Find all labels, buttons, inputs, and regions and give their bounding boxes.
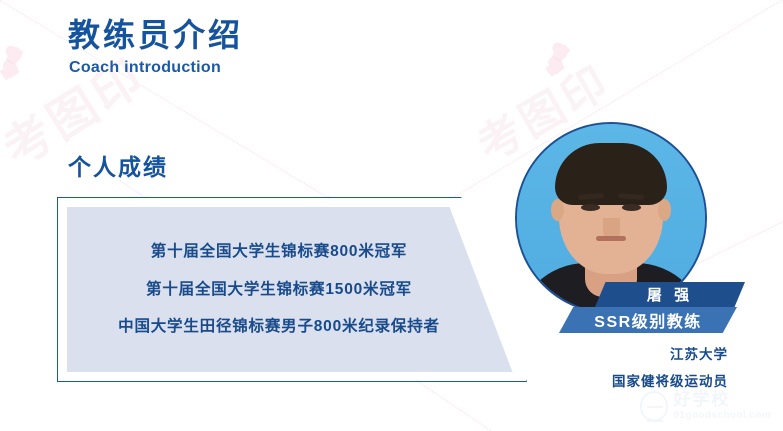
- achievements-list: 第十届全国大学生锦标赛800米冠军 第十届全国大学生锦标赛1500米冠军 中国大…: [57, 197, 527, 382]
- section-heading-personal-results: 个人成绩: [68, 148, 168, 182]
- site-watermark: 好学校 91goodschool.com: [640, 391, 771, 421]
- portrait-eye-right: [622, 204, 641, 211]
- achievements-panel: 第十届全国大学生锦标赛800米冠军 第十届全国大学生锦标赛1500米冠军 中国大…: [57, 197, 527, 382]
- portrait-eyebrow-right: [618, 193, 644, 200]
- coach-introduction-slide: 考图印 考图印 教练员介绍 Coach introduction 个人成绩 第十…: [0, 0, 783, 431]
- coach-rank: 国家健将级运动员: [612, 375, 728, 389]
- portrait-eye-left: [581, 204, 600, 211]
- coach-level-label: SSR级别教练: [594, 308, 701, 332]
- portrait-mouth: [596, 236, 626, 241]
- brand-texts: 好学校 91goodschool.com: [673, 391, 771, 421]
- portrait-ear-right: [658, 199, 671, 221]
- coach-name-banner: 屠 强: [595, 282, 745, 307]
- page-header: 教练员介绍 Coach introduction: [68, 18, 243, 77]
- page-subtitle: Coach introduction: [69, 59, 243, 77]
- heart-icon: [3, 41, 35, 72]
- page-title: 教练员介绍: [68, 18, 243, 53]
- portrait-hair: [555, 143, 667, 205]
- heart-icon: [0, 60, 32, 93]
- brand-name-cn: 好学校: [673, 391, 771, 408]
- list-item: 第十届全国大学生锦标赛1500米冠军: [146, 282, 412, 298]
- brand-logo-icon: [640, 391, 668, 421]
- brand-url: 91goodschool.com: [673, 411, 771, 421]
- coach-level-banner: SSR级别教练: [559, 307, 737, 333]
- heart-icon: [544, 56, 573, 83]
- coach-school: 江苏大学: [612, 348, 728, 362]
- coach-name-label: 屠 强: [647, 284, 693, 305]
- list-item: 第十届全国大学生锦标赛800米冠军: [151, 244, 407, 260]
- heart-icon: [550, 40, 576, 64]
- list-item: 中国大学生田径锦标赛男子800米纪录保持者: [118, 319, 440, 335]
